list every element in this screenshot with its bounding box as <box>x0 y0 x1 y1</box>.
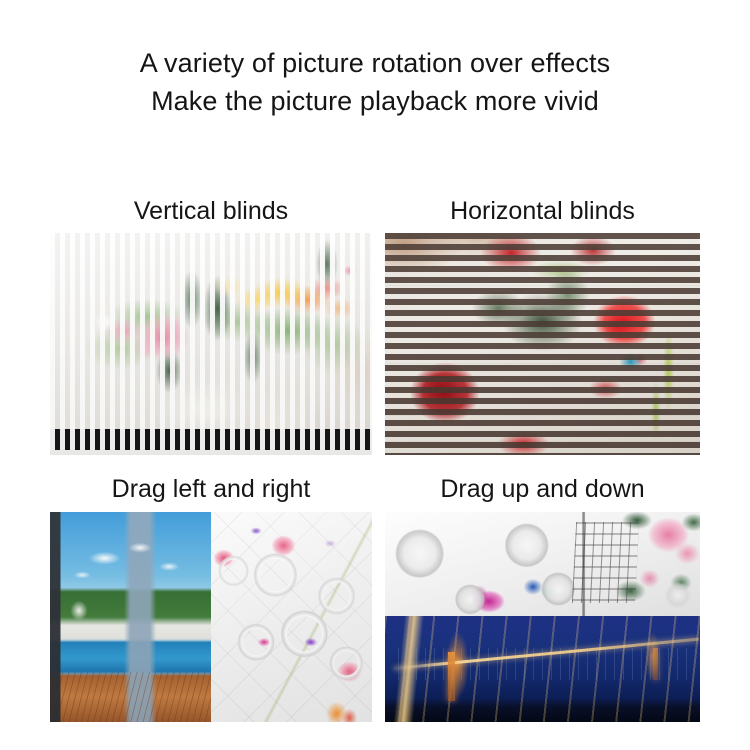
caption-horizontal-blinds: Horizontal blinds <box>385 196 700 226</box>
panel-drag-left-right <box>50 512 372 722</box>
panel-horizontal-blinds <box>385 233 700 455</box>
vertical-split-container <box>385 512 700 722</box>
photo-night-bridge <box>385 616 700 722</box>
calligraphy-text-art <box>572 522 639 603</box>
bridge-tower-near <box>448 652 455 701</box>
photo-wall-art-mural <box>385 512 700 616</box>
caption-vertical-blinds: Vertical blinds <box>50 196 372 226</box>
bridge-tower-far <box>653 648 658 680</box>
photo-swimming-pool <box>50 512 211 722</box>
horizontal-blind-slats-overlay <box>385 233 700 455</box>
headline-block: A variety of picture rotation over effec… <box>0 44 750 120</box>
panel-vertical-blinds <box>50 233 372 455</box>
headline-line-2: Make the picture playback more vivid <box>0 82 750 120</box>
vertical-blind-slats-foot <box>50 429 372 455</box>
caption-drag-up-down: Drag up and down <box>385 474 700 504</box>
headline-line-1: A variety of picture rotation over effec… <box>0 44 750 82</box>
promo-page: { "headline": { "line1": "A variety of p… <box>0 0 750 750</box>
vertical-blind-slats-overlay <box>50 233 372 455</box>
horizontal-split-container <box>50 512 372 722</box>
caption-drag-left-right: Drag left and right <box>50 474 372 504</box>
photo-circle-wall-mural <box>211 512 372 722</box>
panel-drag-up-down <box>385 512 700 722</box>
